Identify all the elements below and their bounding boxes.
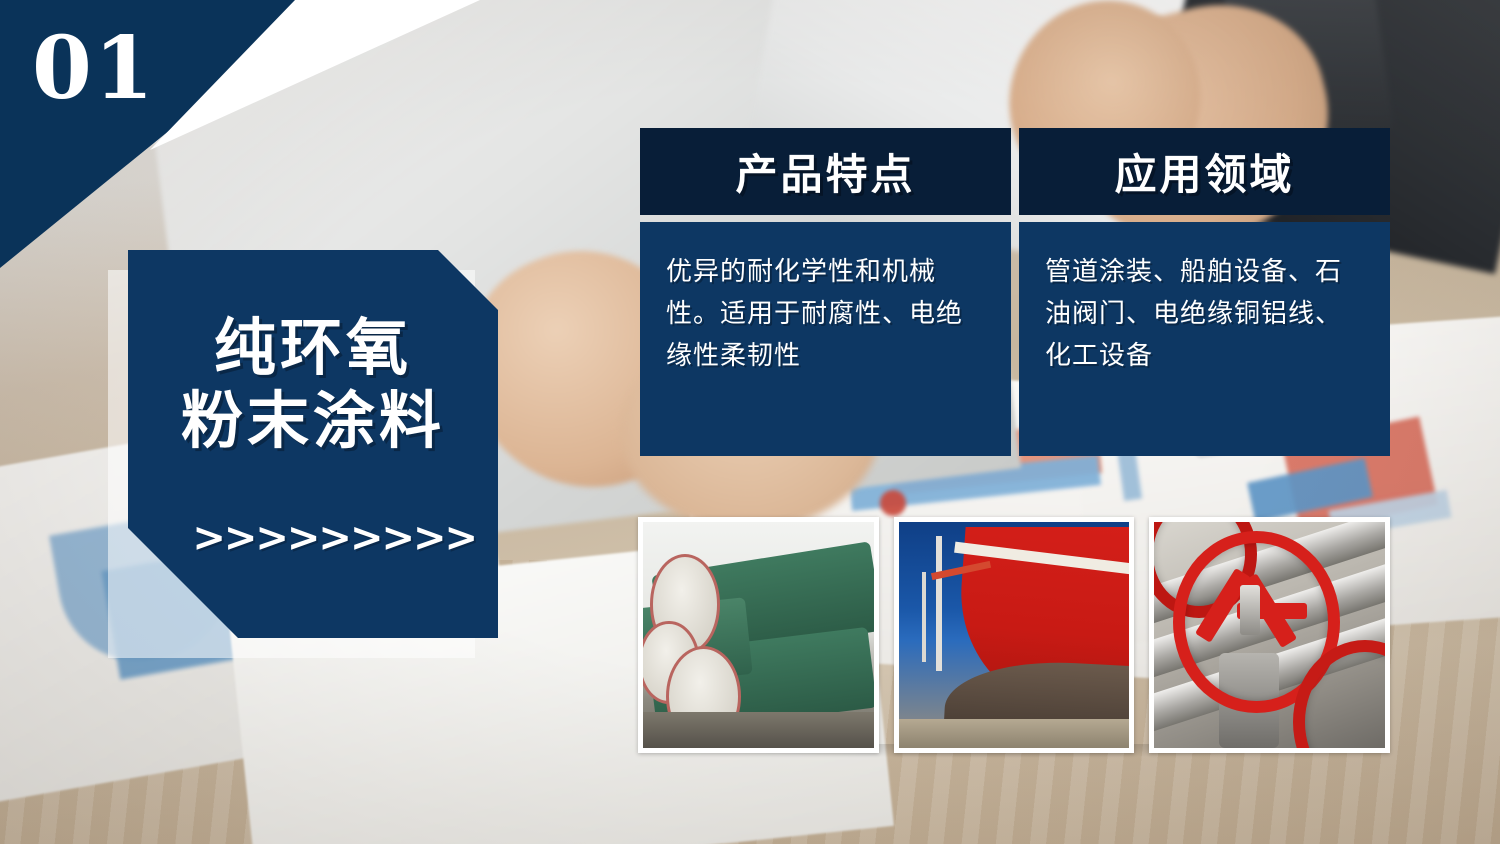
panel-header-label: 应用领域 <box>1114 141 1294 202</box>
title-text: 纯环氧 粉末涂料 <box>128 312 498 458</box>
panel-body: 管道涂装、船舶设备、石油阀门、电绝缘铜铝线、化工设备 <box>1019 222 1390 456</box>
slide-root: 01 纯环氧 粉末涂料 >>>>>>>>> 产品特点 优异的耐化学性和机械性。适… <box>0 0 1500 844</box>
ground-strip <box>899 719 1130 748</box>
panel-application-fields: 应用领域 管道涂装、船舶设备、石油阀门、电绝缘铜铝线、化工设备 <box>1019 128 1390 456</box>
chevron-arrows-icon: >>>>>>>>> <box>128 518 476 558</box>
photo-strip <box>638 517 1390 753</box>
panel-header: 应用领域 <box>1019 128 1390 215</box>
title-card: 纯环氧 粉末涂料 >>>>>>>>> <box>128 250 498 638</box>
title-line-2: 粉末涂料 <box>128 385 498 458</box>
panel-header: 产品特点 <box>640 128 1011 215</box>
title-line-1: 纯环氧 <box>128 312 498 385</box>
photo-red-valve-handwheels <box>1149 517 1390 753</box>
photo-red-ship-hull <box>894 517 1135 753</box>
panel-body-text: 优异的耐化学性和机械性。适用于耐腐性、电绝缘性柔韧性 <box>666 250 989 376</box>
panel-body-text: 管道涂装、船舶设备、石油阀门、电绝缘铜铝线、化工设备 <box>1045 250 1368 376</box>
panel-header-label: 产品特点 <box>735 141 915 202</box>
section-number: 01 <box>32 26 156 112</box>
panel-product-features: 产品特点 优异的耐化学性和机械性。适用于耐腐性、电绝缘性柔韧性 <box>640 128 1011 456</box>
photo-green-coated-pipes <box>638 517 879 753</box>
ship-mast <box>922 572 927 662</box>
info-panels: 产品特点 优异的耐化学性和机械性。适用于耐腐性、电绝缘性柔韧性 应用领域 管道涂… <box>640 128 1390 456</box>
panel-body: 优异的耐化学性和机械性。适用于耐腐性、电绝缘性柔韧性 <box>640 222 1011 456</box>
valve-stem <box>1240 585 1261 635</box>
ship-mast <box>936 536 943 672</box>
ground-strip <box>643 712 874 748</box>
